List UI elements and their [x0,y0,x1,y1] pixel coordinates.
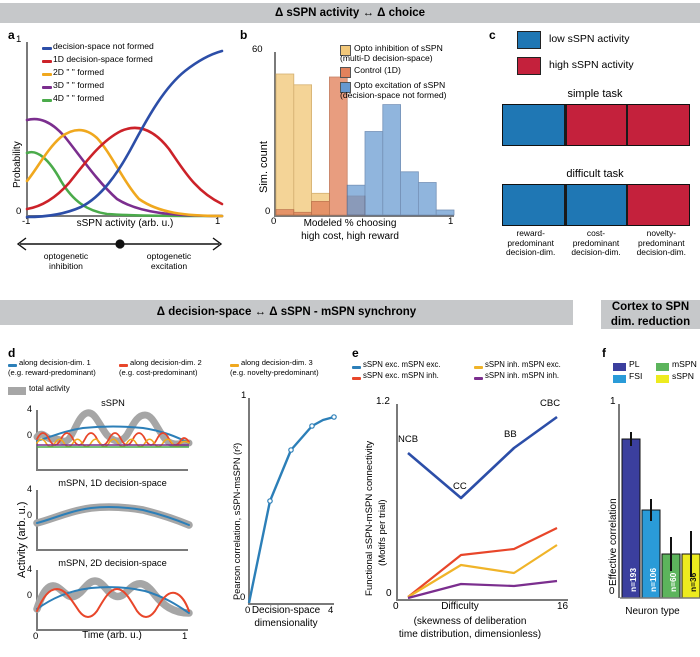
panel-e-ytick-top: 1.2 [376,396,390,407]
panel-b-ytick-top: 60 [252,44,263,55]
panel-f-legend-label-mSPN: mSPN [672,360,697,370]
panel-d-subplot-2-traces [37,569,189,631]
panel-e-legend-swatch-2 [352,377,361,380]
panel-d-legend-label-1-line1: along decision-dim. 2 [130,359,202,368]
panel-f-xlabel: Neuron type [605,606,700,617]
panel-a-arrow [12,236,227,252]
panel-c-difficult-divider-1 [626,185,629,225]
panel-f-ytick-top: 1 [610,396,616,407]
panel-a-legend-swatch-2 [42,73,52,76]
panel-c-legend-label-1: high sSPN activity [549,59,634,71]
panel-d-right-xlabel: Decision-space dimensionality [240,605,332,630]
panel-d-subplot-1-traces [37,489,189,551]
panel-c-difficult-task-bar [502,184,690,226]
panel-b-legend-label-0-line2: (multi-D decision-space) [340,54,433,64]
panel-a-ylabel: Probability [12,141,23,188]
panel-c-simple-divider-0 [564,105,567,145]
banner-right-line1: Cortex to SPN [612,300,689,314]
panel-d-legend-label-0-line2: (e.g. reward-predominant) [8,369,96,378]
panel-d-legend-label-0-line1: along decision-dim. 1 [19,359,91,368]
panel-a-xlabel: sSPN activity (arb. u.) [30,218,220,229]
panel-e-letter: e [352,346,359,360]
panel-c-legend-label-0: low sSPN activity [549,33,630,45]
panel-e-annotation-CC: CC [453,482,467,493]
panel-e-annotation-BB: BB [504,430,517,441]
panel-c-simple-segment-2 [628,105,689,145]
panel-d-subplot-0-title: sSPN [38,398,188,408]
panel-d-ylabel: Activity (arb. u.) [16,502,28,578]
panel-d-legend-label-2-line1: along decision-dim. 3 [241,359,313,368]
panel-c-simple-task-title: simple task [500,88,690,100]
panel-f-ytick-bottom: 0 [609,586,615,597]
panel-c-simple-task-bar [502,104,690,146]
panel-b-ylabel: Sim. count [258,141,270,193]
panel-f-legend-swatch-sSPN [656,375,669,383]
panel-e-legend-label-2: sSPN exc. mSPN inh. [363,372,439,381]
panel-e-chart: 1.2 0 0 16 Functional sSPN-mSPN connecti… [352,396,592,616]
panel-b-ytick-bottom: 0 [265,206,270,217]
panel-a-legend-swatch-1 [42,60,52,63]
panel-b-xlabel-line1: Modeled % choosing [250,218,450,231]
panel-a-legend-label-1: 1D decision-space formed [53,55,153,65]
panel-e-ylabel-line1: Functional sSPN-mSPN connectivity [364,441,375,596]
panel-c-dim-label-0-line3: decision-dim. [498,248,563,258]
panel-a-arrow-right-label: optogenetic excitation [128,252,210,272]
panel-d-xtick-right: 1 [182,631,187,642]
panel-a-legend-label-4: 4D " " formed [53,94,104,104]
panel-a-chart: 1 0 -1 1 Probability decision-space not … [0,28,235,238]
panel-d-subplot-0-traces [37,409,189,471]
panel-f-bar-label-2: n=60 [669,573,679,592]
panel-d-subplot-1-ytick-top: 4 [27,484,32,494]
panel-b-legend-swatch-1 [340,67,351,78]
panel-a-ytick-top: 1 [16,34,21,45]
panel-a-legend-label-0: decision-space not formed [53,42,154,52]
panel-d-subplot-1-title: mSPN, 1D decision-space [30,478,195,488]
panel-f-chart: 1 0 Effective correlation n=193 n=106 n=… [600,396,700,621]
panel-e-xtick-left: 0 [393,601,399,612]
panel-c-legend-swatch-1 [517,57,541,75]
banner-top-label: Δ sSPN activity ↔ Δ choice [275,6,425,20]
panel-e-legend-swatch-1 [474,366,483,369]
panel-a-legend-label-3: 3D " " formed [53,81,104,91]
panel-a-ytick-bottom: 0 [16,206,21,217]
panel-f-legend-label-FSI: FSI [629,372,642,382]
panel-d-legend-label-2-line2: (e.g. novelty-predominant) [230,369,319,378]
panel-d-legend-label-1-line2: (e.g. cost-predominant) [119,369,198,378]
panel-b-legend-label-2-line2: (decision-space not formed) [340,91,447,101]
panel-e-annotation-NCB: NCB [398,435,418,446]
panel-c-simple-segment-0 [503,105,564,145]
panel-d-right-curve [249,396,337,604]
panel-e-xlabel: Difficulty [400,601,520,612]
panel-c-letter: c [489,28,496,42]
panel-d-right-chart: 1 0 0 4 Pearson correlation, sSPN-msSPN … [210,392,340,617]
panel-c-dim-label-0: reward- predominant decision-dim. [498,229,563,258]
panel-d-subplot-1: 4 0 [0,488,200,552]
panel-d-xlabel: Time (arb. u.) [52,630,172,641]
panel-f-letter: f [602,346,606,360]
panel-c-dim-label-2: novelty- predominant decision-dim. [629,229,694,258]
panel-c-difficult-divider-0 [564,185,567,225]
panel-d-xtick-left: 0 [33,631,38,642]
panel-e-legend-label-0: sSPN exc. mSPN exc. [363,361,441,370]
panel-f-legend-swatch-FSI [613,375,626,383]
panel-c-difficult-task-title: difficult task [500,168,690,180]
panel-e-curves [397,402,569,600]
panel-a-arrow-left-label: optogenetic inhibition [26,252,106,272]
panel-d-right-xlabel-line1: Decision-space [240,605,332,618]
panel-e-ylabel-line2: (Motifs per trial) [377,499,388,566]
panel-e-legend-label-1: sSPN inh. mSPN exc. [485,361,561,370]
panel-c-dim-labels: reward- predominant decision-dim. cost- … [498,229,694,258]
panel-e-xlabel-sub-line2: time distribution, dimensionless) [355,629,585,642]
panel-a-legend-swatch-3 [42,86,52,89]
panel-d-subplot-0-ytick-bottom: 0 [27,430,32,440]
panel-b-legend-label-1-line1: Control (1D) [354,66,401,76]
panel-d-legend-swatch-1 [119,364,128,367]
panel-a-arrow-left-line2: inhibition [26,262,106,272]
panel-a-legend-swatch-0 [42,47,52,50]
panel-d-right-ytick-top: 1 [241,390,246,401]
panel-d-total-activity-label: total activity [29,385,70,394]
panel-d-right-ylabel: Pearson correlation, sSPN-msSPN (r²) [232,443,242,600]
panel-b-legend: Opto inhibition of sSPN (multi-D decisio… [340,44,520,101]
panel-a-legend-swatch-4 [42,99,52,102]
panel-f-legend-swatch-mSPN [656,363,669,371]
panel-c-simple-segment-1 [567,105,626,145]
panel-d-right-xlabel-line2: dimensionality [240,618,332,631]
panel-c-dim-label-1-line3: decision-dim. [563,248,628,258]
banner-right: Cortex to SPN dim. reduction [601,300,700,329]
panel-f-ylabel: Effective correlation [608,498,619,586]
panel-c-legend-swatch-0 [517,31,541,49]
panel-d-subplot-0-ytick-top: 4 [27,404,32,414]
panel-f-bar-label-3: n=36 [689,573,699,592]
panel-c-difficult-segment-1 [567,185,626,225]
panel-d-subplot-2-title: mSPN, 2D decision-space [30,558,195,568]
panel-b-xlabel: Modeled % choosing high cost, high rewar… [250,218,450,243]
panel-a-arrow-right-line2: excitation [128,262,210,272]
panel-e-legend-swatch-0 [352,366,361,369]
panel-c-difficult-segment-0 [503,185,564,225]
panel-c-simple-divider-1 [626,105,629,145]
banner-top: Δ sSPN activity ↔ Δ choice [0,3,700,23]
panel-e-xtick-right: 16 [557,601,568,612]
panel-e-ytick-bottom: 0 [386,588,392,599]
panel-d-total-activity-swatch [8,387,26,395]
panel-d-subplot-2: 4 0 [0,568,200,632]
panel-b-xlabel-line2: high cost, high reward [250,231,450,244]
panel-e-annotation-CBC: CBC [540,399,560,410]
panel-e-xlabel-sub: (skewness of deliberation time distribut… [355,616,585,641]
panel-d-subplot-2-ytick-bottom: 0 [27,590,32,600]
panel-e-xlabel-sub-line1: (skewness of deliberation [355,616,585,629]
panel-d-subplot-0: 4 0 [0,408,200,472]
panel-e-legend-label-3: sSPN inh. mSPN inh. [485,372,559,381]
banner-middle: Δ decision-space ↔ Δ sSPN - mSPN synchro… [0,300,573,325]
panel-f-bar-label-0: n=193 [629,568,639,592]
panel-e-legend-swatch-3 [474,377,483,380]
panel-c-dim-label-2-line3: decision-dim. [629,248,694,258]
panel-a-legend-label-2: 2D " " formed [53,68,104,78]
panel-f-bar-label-1: n=106 [649,568,659,592]
banner-right-line2: dim. reduction [611,315,690,329]
banner-middle-label: Δ decision-space ↔ Δ sSPN - mSPN synchro… [157,305,416,319]
panel-d-legend-swatch-0 [8,364,17,367]
panel-f-legend-label-PL: PL [629,360,640,370]
panel-c-difficult-segment-2 [628,185,689,225]
panel-d-legend-swatch-2 [230,364,239,367]
panel-c-dim-label-1: cost- predominant decision-dim. [563,229,628,258]
panel-f-legend-label-sSPN: sSPN [672,372,694,382]
panel-d-letter: d [8,346,15,360]
panel-f-legend-swatch-PL [613,363,626,371]
